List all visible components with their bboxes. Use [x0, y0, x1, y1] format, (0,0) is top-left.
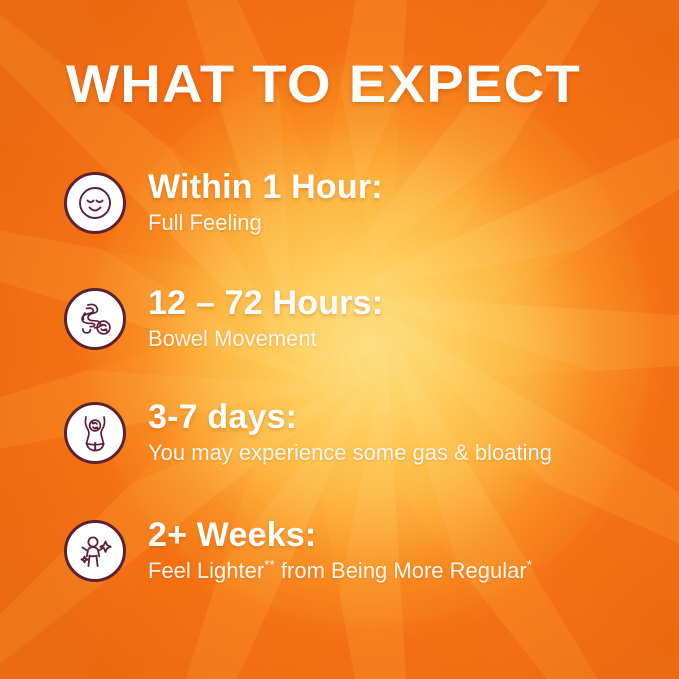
list-item-text: 3-7 days: You may experience some gas & … [148, 398, 552, 467]
torso-waist-cycle-icon [64, 402, 126, 464]
list-item-headline: Within 1 Hour: [148, 168, 383, 206]
list-item: Within 1 Hour: Full Feeling [64, 168, 383, 237]
list-item-subline: Full Feeling [148, 209, 383, 237]
list-item-subline: Feel Lighter** from Being More Regular* [148, 557, 532, 585]
list-item: 12 – 72 Hours: Bowel Movement [64, 284, 383, 353]
what-to-expect-infographic: WHAT TO EXPECT Within 1 Hour: Full Feeli… [0, 0, 679, 679]
subline-text: Bowel Movement [148, 326, 317, 351]
subline-text: Full Feeling [148, 210, 262, 235]
list-item-text: 2+ Weeks: Feel Lighter** from Being More… [148, 516, 532, 585]
list-item-subline: You may experience some gas & bloating [148, 439, 552, 467]
subline-footnote-2: * [527, 558, 532, 573]
list-item: 2+ Weeks: Feel Lighter** from Being More… [64, 516, 532, 585]
person-sparkles-icon [64, 520, 126, 582]
page-title: WHAT TO EXPECT [66, 58, 581, 111]
list-item: 3-7 days: You may experience some gas & … [64, 398, 552, 467]
list-item-text: Within 1 Hour: Full Feeling [148, 168, 383, 237]
list-item-subline: Bowel Movement [148, 325, 383, 353]
subline-footnote-1: ** [264, 558, 275, 573]
intestines-cycle-icon [64, 288, 126, 350]
subline-text: You may experience some gas & bloating [148, 440, 552, 465]
list-item-headline: 12 – 72 Hours: [148, 284, 383, 322]
poster-content: WHAT TO EXPECT Within 1 Hour: Full Feeli… [0, 0, 679, 679]
list-item-text: 12 – 72 Hours: Bowel Movement [148, 284, 383, 353]
subline-text: Feel Lighter [148, 558, 264, 583]
smiling-face-icon [64, 172, 126, 234]
list-item-headline: 2+ Weeks: [148, 516, 532, 554]
list-item-headline: 3-7 days: [148, 398, 552, 436]
subline-text-2: from Being More Regular [275, 558, 527, 583]
